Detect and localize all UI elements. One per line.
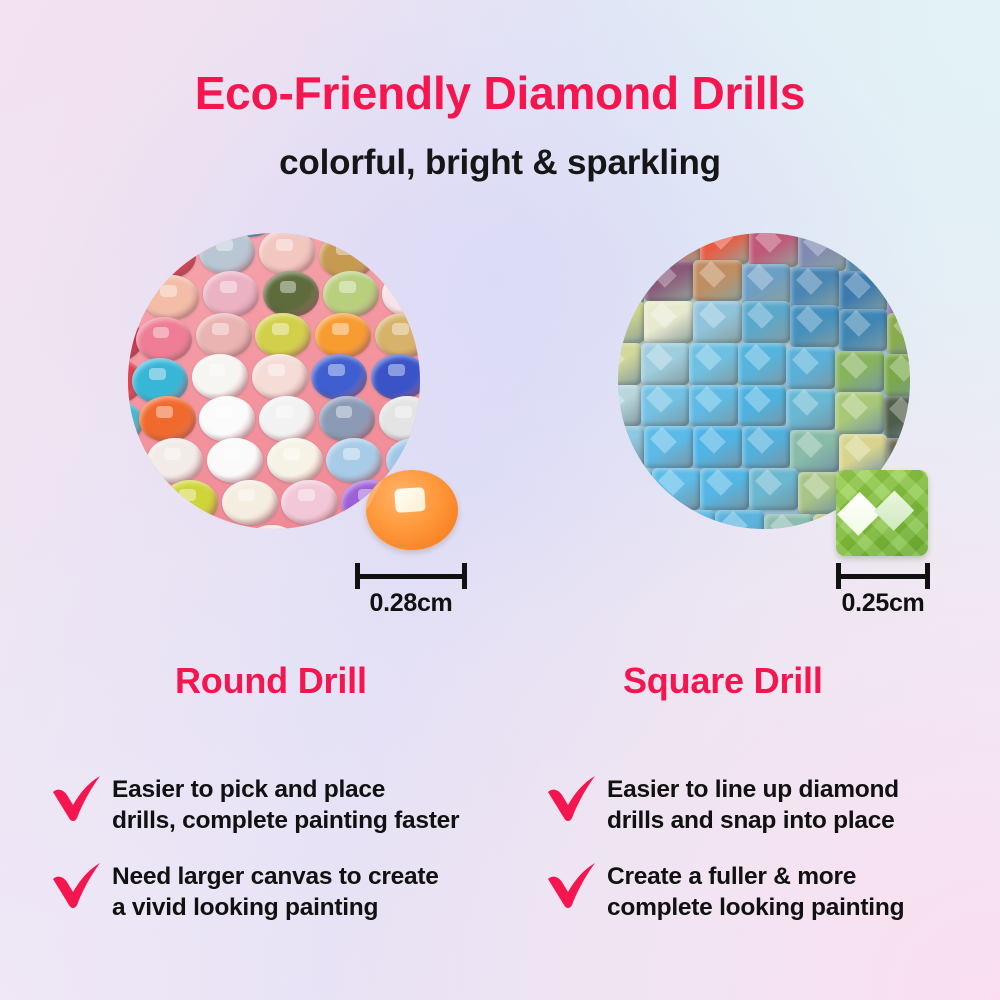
feature-bullet-text: Create a fuller & more complete looking … [607, 859, 904, 924]
infographic-poster: Eco-Friendly Diamond Drills colorful, br… [0, 0, 1000, 1000]
square-drill-bead-facet [618, 264, 629, 291]
square-drill-bead-facet [845, 310, 872, 337]
square-drill-bead-facet [699, 302, 726, 329]
square-drill-bead-facet [901, 242, 910, 269]
square-drill-bead-facet [893, 314, 910, 341]
square-drill-bead [715, 510, 764, 529]
feature-bullet: Need larger canvas to create a vivid loo… [50, 859, 520, 924]
round-drill-bead [263, 271, 319, 316]
round-drill-bead-facet [220, 281, 237, 293]
square-drill-bead-facet [618, 385, 625, 412]
square-drill-bead [884, 354, 910, 396]
square-drill-bead-facet [804, 473, 831, 500]
square-drill-bead-facet [748, 302, 775, 329]
round-drill-bead [259, 396, 315, 441]
round-drill-bead [379, 396, 420, 441]
round-drill-bead-facet [156, 243, 173, 255]
round-drill-bead [199, 396, 255, 441]
square-drill-bead-facet [695, 344, 722, 371]
square-drill-bead-facet [618, 427, 629, 454]
square-drill-bead-facet [744, 385, 771, 412]
round-drill-measurement-ruler: 0.28cm [355, 563, 467, 589]
square-drill-bead-facet [618, 469, 636, 496]
square-drill-bead [764, 514, 813, 529]
square-drill-bead [618, 385, 641, 427]
square-drill-bead-facet [658, 233, 685, 249]
ruler-bar [836, 574, 930, 579]
square-drill-bead [689, 343, 738, 385]
square-drill-bead-facet [650, 260, 677, 287]
round-drill-bead-facet [280, 281, 297, 293]
page-title: Eco-Friendly Diamond Drills [0, 66, 1000, 120]
square-drill-bead [641, 343, 690, 385]
round-drill-measurement-label: 0.28cm [355, 589, 467, 618]
square-drill-bead [618, 264, 644, 306]
square-drill-bead [700, 233, 749, 264]
square-drill-bead-facet [841, 351, 868, 378]
ruler-cap-right [462, 563, 467, 589]
square-drill-bead [846, 233, 895, 275]
round-drill-heading: Round Drill [175, 660, 367, 702]
feature-bullet: Easier to pick and place drills, complet… [50, 772, 520, 837]
square-drill-sample [836, 470, 928, 556]
round-drill-bead-facet [212, 323, 229, 335]
feature-bullet-text: Easier to pick and place drills, complet… [112, 772, 459, 837]
square-drill-measurement-label: 0.25cm [836, 589, 930, 618]
square-drill-bead-facet [647, 344, 674, 371]
round-drill-sample [366, 470, 458, 550]
round-drill-bead [184, 525, 240, 529]
round-drill-bead [255, 313, 311, 358]
square-drill-bead [790, 305, 839, 347]
round-drill-bead [323, 271, 379, 316]
square-drill-bead [742, 426, 791, 468]
square-drill-feature-list: Easier to line up diamond drills and sna… [545, 772, 1000, 945]
square-drill-bead-facet [748, 264, 775, 291]
round-drill-bead-facet [209, 364, 226, 376]
square-drill-bead-facet [852, 234, 879, 261]
square-drill-bead-facet [618, 344, 625, 371]
round-drill-bead-facet [160, 285, 177, 297]
round-drill-bead [143, 275, 199, 320]
round-drill-bead [319, 396, 375, 441]
square-drill-bead [738, 343, 787, 385]
ruler-cap-left [355, 563, 360, 589]
round-drill-bead [267, 438, 323, 483]
round-drill-bead-facet [276, 406, 293, 418]
square-drill-bead [618, 426, 644, 468]
round-drill-bead [196, 313, 252, 358]
square-drill-bead [644, 301, 693, 343]
square-drill-bead [887, 275, 910, 317]
square-drill-bead-facet [792, 348, 819, 375]
square-drill-bead [693, 301, 742, 343]
square-drill-bead [749, 233, 798, 267]
square-drill-bead-facet [650, 302, 677, 329]
square-drill-bead-facet [792, 389, 819, 416]
square-drill-bead [786, 347, 835, 389]
round-drill-bead-facet [392, 323, 409, 335]
square-drill-bead [667, 510, 716, 529]
square-drill-bead-facet [890, 355, 910, 382]
square-drill-bead-facet [673, 511, 700, 529]
square-drill-bead-facet [699, 427, 726, 454]
square-drill-bead [835, 351, 884, 393]
round-drill-bead-facet [179, 489, 196, 501]
round-drill-bead [311, 354, 367, 399]
square-drill-bead-facet [796, 306, 823, 333]
square-drill-bead-facet [770, 514, 797, 529]
square-drill-bead [693, 426, 742, 468]
round-drill-bead-facet [395, 406, 412, 418]
round-drill-bead-facet [399, 281, 416, 293]
round-drill-bead-facet [343, 448, 360, 460]
square-drill-bead [887, 313, 910, 355]
square-drill-bead [839, 309, 888, 351]
square-drill-bead [644, 426, 693, 468]
square-drill-bead-facet [744, 344, 771, 371]
square-drill-bead [835, 392, 884, 434]
square-drill-bead [652, 468, 701, 510]
round-drill-bead [192, 354, 248, 399]
square-drill-bead-facet [845, 272, 872, 299]
square-drill-bead [839, 271, 888, 313]
round-drill-bead-facet [156, 406, 173, 418]
round-drill-bead [207, 438, 263, 483]
round-drill-bead-facet [276, 239, 293, 251]
square-drill-bead [644, 260, 693, 302]
feature-bullet: Create a fuller & more complete looking … [545, 859, 1000, 924]
square-drill-bead [700, 468, 749, 510]
square-drill-bead [786, 389, 835, 431]
square-drill-bead [749, 468, 798, 510]
square-drill-bead-facet [755, 469, 782, 496]
square-drill-bead [790, 430, 839, 472]
round-drill-bead-facet [388, 364, 405, 376]
square-drill-bead-facet [618, 302, 629, 329]
check-icon [545, 861, 601, 913]
ruler-cap-right [925, 563, 930, 589]
check-icon [50, 774, 106, 826]
square-drill-bead-facet [893, 439, 910, 466]
square-drill-bead [790, 267, 839, 309]
round-drill-bead [375, 313, 420, 358]
square-drill-bead [652, 233, 701, 264]
feature-bullet-text: Easier to line up diamond drills and sna… [607, 772, 899, 837]
square-drill-bead-facet [624, 511, 651, 529]
round-drill-bead [382, 271, 420, 316]
square-drill-bead-facet [845, 435, 872, 462]
round-drill-bead-facet [328, 364, 345, 376]
round-drill-bead [199, 233, 255, 275]
square-drill-bead-facet [748, 427, 775, 454]
round-drill-bead-facet [336, 406, 353, 418]
square-drill-bead [884, 396, 910, 438]
round-drill-bead [222, 480, 278, 525]
square-drill-bead-facet [755, 233, 782, 253]
square-drill-bead [742, 264, 791, 306]
feature-bullet: Easier to line up diamond drills and sna… [545, 772, 1000, 837]
round-drill-bead-facet [283, 448, 300, 460]
square-drill-bead [693, 260, 742, 302]
square-drill-bead-facet [721, 511, 748, 529]
round-sample-highlight [394, 487, 426, 513]
round-drill-bead [326, 438, 382, 483]
round-drill-bead [304, 525, 360, 529]
round-drill-bead-facet [395, 247, 412, 259]
round-drill-bead-facet [216, 406, 233, 418]
square-drill-bead-facet [699, 260, 726, 287]
square-drill-bead-facet [796, 268, 823, 295]
round-drill-bead [162, 480, 218, 525]
square-drill-bead-facet [706, 469, 733, 496]
round-drill-bead [259, 233, 315, 275]
round-drill-bead-facet [268, 364, 285, 376]
square-drill-bead [618, 301, 644, 343]
square-drill-bead-facet [706, 233, 733, 249]
ruler-cap-left [836, 563, 841, 589]
round-drill-bead [128, 483, 158, 528]
round-drill-bead [136, 317, 192, 362]
square-drill-bead-facet [890, 397, 910, 424]
square-drill-bead [618, 468, 652, 510]
square-drill-bead-facet [804, 233, 831, 257]
square-drill-bead [618, 510, 667, 529]
square-drill-bead [798, 233, 847, 271]
round-drill-bead [244, 525, 300, 529]
square-drill-bead [618, 343, 641, 385]
feature-bullet-text: Need larger canvas to create a vivid loo… [112, 859, 439, 924]
square-drill-bead-facet [618, 233, 636, 253]
round-drill-bead-facet [339, 281, 356, 293]
round-drill-bead [139, 396, 195, 441]
page-subtitle: colorful, bright & sparkling [0, 143, 1000, 183]
square-drill-bead-facet [893, 276, 910, 303]
round-drill-feature-list: Easier to pick and place drills, complet… [50, 772, 520, 945]
square-drill-bead [738, 385, 787, 427]
round-drill-bead [281, 480, 337, 525]
square-drill-bead-facet [650, 427, 677, 454]
check-icon [545, 774, 601, 826]
round-drill-bead [147, 438, 203, 483]
round-drill-bead [139, 233, 195, 278]
round-drill-bead-facet [216, 239, 233, 251]
round-drill-bead-facet [238, 489, 255, 501]
round-drill-bead [371, 354, 420, 399]
round-drill-bead [252, 354, 308, 399]
round-drill-bead-facet [153, 327, 170, 339]
square-drill-bead-facet [658, 469, 685, 496]
square-drill-bead-facet [841, 393, 868, 420]
round-drill-bead-facet [149, 368, 166, 380]
square-drill-bead-facet [796, 431, 823, 458]
check-icon [50, 861, 106, 913]
round-drill-bead-facet [272, 323, 289, 335]
round-drill-bead [128, 279, 143, 324]
square-drill-measurement-ruler: 0.25cm [836, 563, 930, 589]
round-drill-bead-facet [336, 243, 353, 255]
round-drill-bead-facet [128, 493, 136, 505]
round-drill-bead-facet [403, 448, 420, 460]
round-drill-bead-facet [164, 448, 181, 460]
square-drill-bead [689, 385, 738, 427]
round-drill-bead-facet [298, 489, 315, 501]
square-drill-bead [641, 385, 690, 427]
square-drill-bead-facet [695, 385, 722, 412]
round-drill-bead [315, 313, 371, 358]
square-drill-bead [742, 301, 791, 343]
round-drill-bead-facet [224, 448, 241, 460]
ruler-bar [355, 574, 467, 579]
square-drill-bead-facet [647, 385, 674, 412]
round-drill-bead-facet [332, 323, 349, 335]
square-drill-heading: Square Drill [623, 660, 823, 702]
round-drill-bead [203, 271, 259, 316]
